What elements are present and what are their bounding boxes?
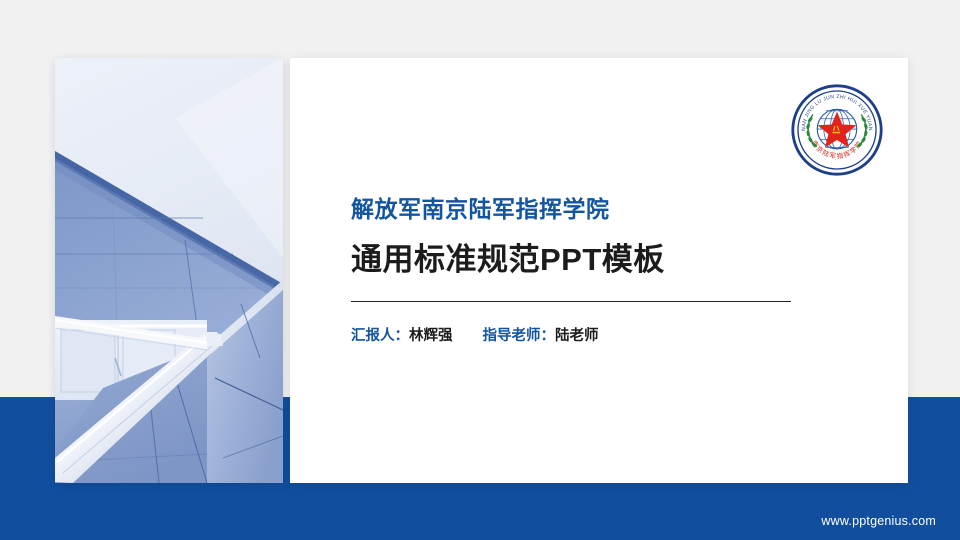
title-text-block: 解放军南京陆军指挥学院 通用标准规范PPT模板 汇报人：林辉强指导老师：陆老师 <box>351 196 801 345</box>
footer-website-url: www.pptgenius.com <box>821 514 936 528</box>
presentation-slide: NAN JING LU JUN ZHI HUI XUE YUAN 南京陆军指挥学… <box>0 0 960 540</box>
architecture-facade-photo <box>55 58 283 483</box>
school-name: 解放军南京陆军指挥学院 <box>351 196 801 222</box>
page-title: 通用标准规范PPT模板 <box>351 242 801 278</box>
advisor-name: 陆老师 <box>555 328 599 344</box>
advisor-label: 指导老师： <box>483 328 556 344</box>
title-divider <box>351 301 791 302</box>
presenter-name: 林辉强 <box>409 328 453 344</box>
presenter-label: 汇报人： <box>351 328 409 344</box>
military-academy-emblem: NAN JING LU JUN ZHI HUI XUE YUAN 南京陆军指挥学… <box>790 83 884 177</box>
byline: 汇报人：林辉强指导老师：陆老师 <box>351 324 801 345</box>
